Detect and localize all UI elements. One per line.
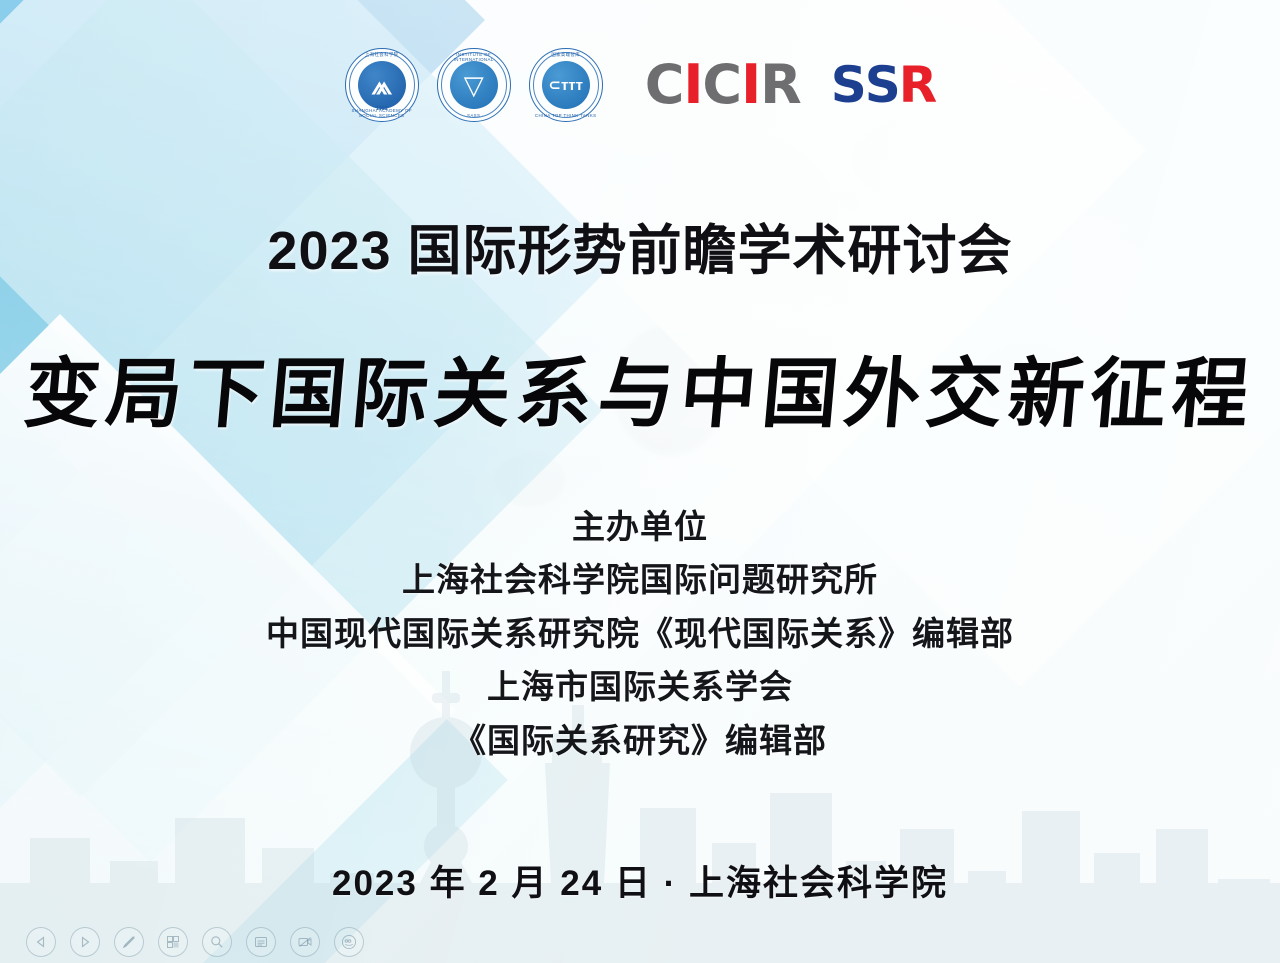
wordmark-group: CICIR SSR [645,58,936,112]
notes-icon [253,934,269,950]
organizer-line: 上海市国际关系学会 [0,660,1280,713]
cicir-letter-i1: I [683,58,702,112]
magnifier-icon [209,934,225,950]
organizer-line: 上海社会科学院国际问题研究所 [0,553,1280,606]
ssr-letter-s2: S [865,60,899,110]
emblem-sass-bottom-text: SHANGHAI ACADEMY OF SOCIAL SCIENCES [345,108,419,118]
presentation-slide: 上海社会科学院 ⩕ 1958 SHANGHAI ACADEMY OF SOCIA… [0,0,1280,963]
page-title: 2023 国际形势前瞻学术研讨会 [0,206,1280,285]
emblem-sass-core: ⩕ [358,61,406,109]
organizers-heading: 主办单位 [0,500,1280,553]
emblem-cttt: 国家高端智库 ⊂ттт CHINA TOP THINK TANKS [529,48,603,122]
triangle-left-icon [34,935,48,949]
video-off-icon [297,934,313,950]
emblem-sass-top-text: 上海社会科学院 [345,52,419,58]
pen-icon [121,934,137,950]
ssr-letter-s1: S [831,60,865,110]
emblem-cttt-top-text: 国家高端智库 [529,52,603,58]
emblem-iir: INSTITUTE OF INTERNATIONAL ▽ · SASS · [437,48,511,122]
notes-button[interactable] [246,927,276,957]
presentation-toolbar [26,927,364,957]
slide-grid-button[interactable] [158,927,188,957]
organizer-line: 《国际关系研究》编辑部 [0,714,1280,767]
emblem-cttt-core: ⊂ттт [542,61,590,109]
cicir-wordmark: CICIR [645,58,801,112]
emblem-iir-core: ▽ [450,61,498,109]
emblem-cttt-glyph: ⊂ттт [548,76,583,94]
cicir-letter-r: R [760,58,801,112]
organizers-block: 主办单位 上海社会科学院国际问题研究所 中国现代国际关系研究院《现代国际关系》编… [0,500,1280,767]
play-slide-button[interactable] [70,927,100,957]
organizer-line: 中国现代国际关系研究院《现代国际关系》编辑部 [0,607,1280,660]
date-venue-line: 2023 年 2 月 24 日 · 上海社会科学院 [0,855,1280,906]
emblem-iir-glyph: ▽ [464,72,484,98]
emblem-cttt-bottom-text: CHINA TOP THINK TANKS [529,113,603,118]
previous-slide-button[interactable] [26,927,56,957]
emblem-sass-glyph: ⩕ [371,72,392,98]
grid-icon [165,934,181,950]
logo-row: 上海社会科学院 ⩕ 1958 SHANGHAI ACADEMY OF SOCIA… [0,48,1280,122]
cicir-letter-c2: C [702,58,741,112]
pen-annotation-button[interactable] [114,927,144,957]
triangle-right-icon [78,935,92,949]
cicir-letter-c1: C [645,58,684,112]
video-off-button[interactable] [290,927,320,957]
circle-badge-icon [340,933,358,951]
calligraphy-subtitle: 变局下国际关系与中国外交新征程 [0,332,1280,442]
ssr-wordmark: SSR [831,60,936,110]
app-badge-button[interactable] [334,927,364,957]
emblem-iir-bottom-text: · SASS · [437,113,511,118]
emblem-sass: 上海社会科学院 ⩕ 1958 SHANGHAI ACADEMY OF SOCIA… [345,48,419,122]
zoom-button[interactable] [202,927,232,957]
cicir-letter-i2: I [741,58,760,112]
ssr-letter-r: R [899,60,936,110]
